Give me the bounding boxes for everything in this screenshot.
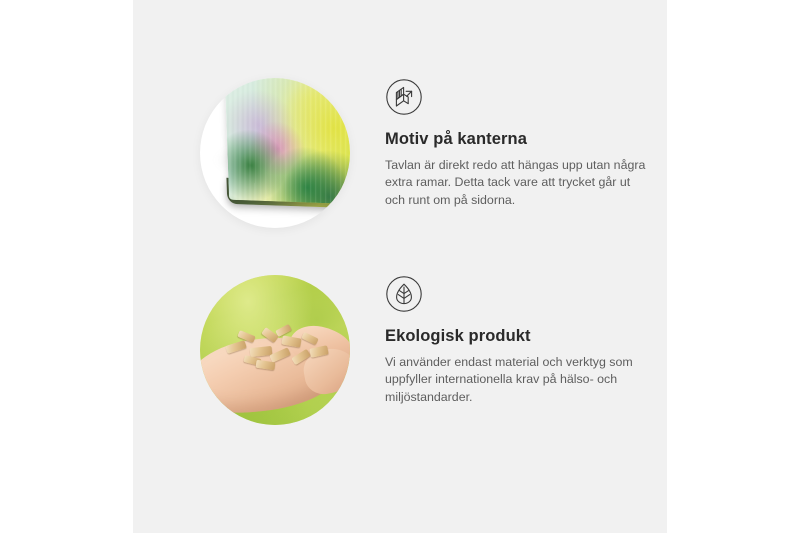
wood-chip — [256, 360, 276, 371]
canvas-wrapped-edge-icon — [385, 78, 423, 116]
wood-chip — [225, 340, 246, 354]
wood-chip — [301, 332, 318, 345]
feature-title: Ekologisk produkt — [385, 327, 665, 347]
wood-chip — [309, 345, 328, 358]
feature-description: Tavlan är direkt redo att hängas upp uta… — [385, 157, 647, 210]
leaf-icon — [385, 275, 423, 313]
content-panel: Motiv på kanterna Tavlan är direkt redo … — [133, 0, 667, 533]
wood-chips-pile — [224, 325, 332, 377]
feature-title: Motiv på kanterna — [385, 130, 665, 150]
wood-chip — [269, 347, 291, 362]
hands-group — [200, 323, 350, 417]
wood-chip — [291, 349, 311, 365]
hands-holding-wood-chips-photo — [200, 275, 350, 425]
feature-copy-edges: Motiv på kanterna Tavlan är direkt redo … — [385, 78, 665, 210]
wood-chip — [281, 335, 301, 347]
canvas-texture-overlay — [225, 78, 350, 204]
canvas-print-object — [219, 78, 350, 224]
feature-description: Vi använder endast material och verktyg … — [385, 354, 647, 407]
canvas-print-corner-photo — [200, 78, 350, 228]
product-feature-banner: Motiv på kanterna Tavlan är direkt redo … — [0, 0, 800, 533]
feature-copy-eco: Ekologisk produkt Vi använder endast mat… — [385, 275, 665, 407]
